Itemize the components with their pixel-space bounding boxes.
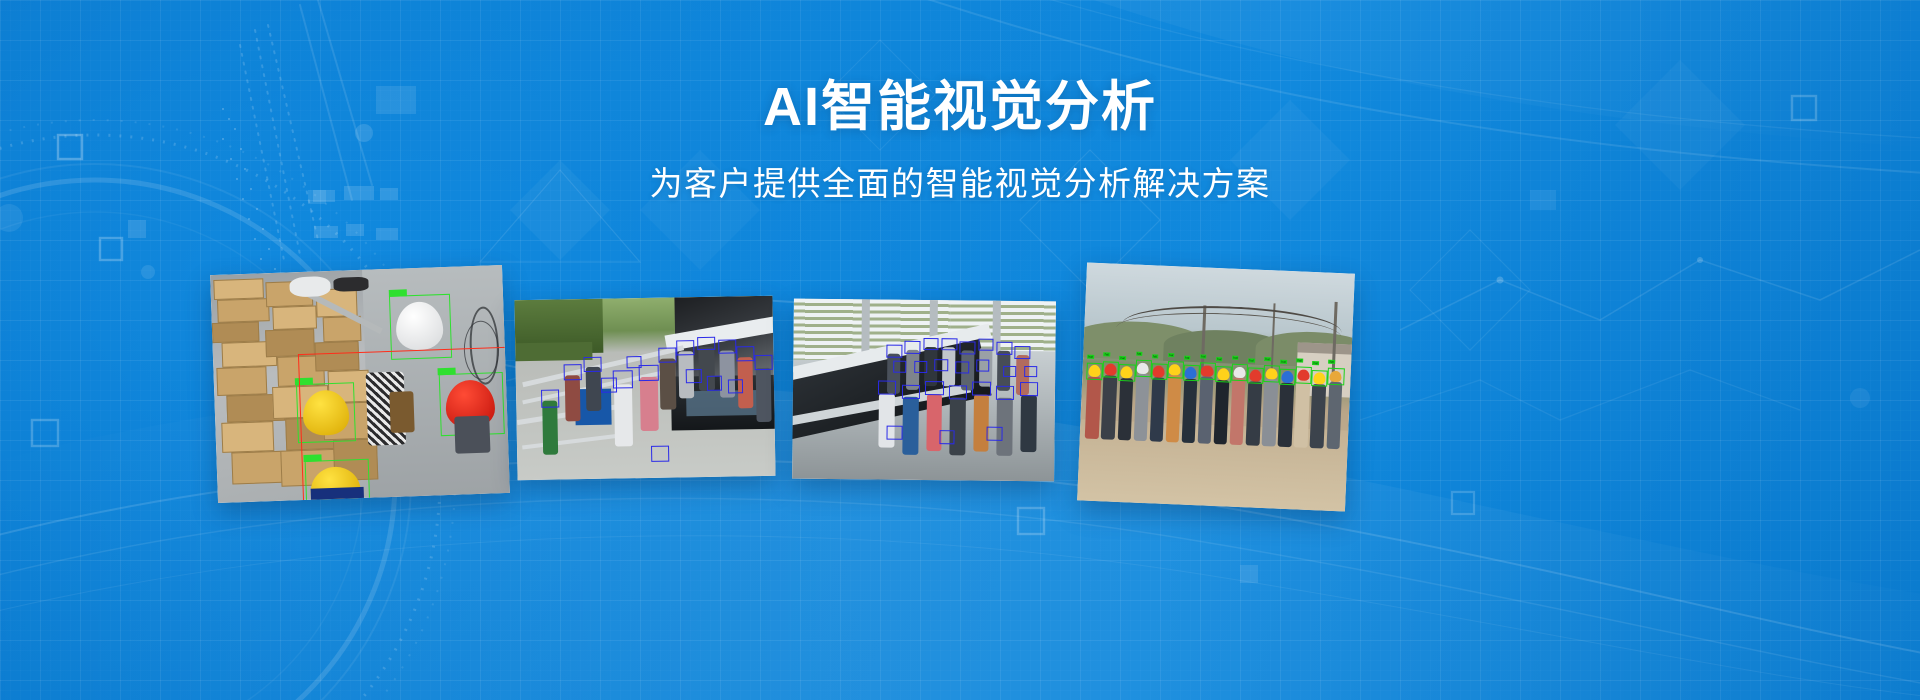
- detection-label: hat: [1120, 356, 1127, 360]
- detection-label: hat: [1136, 351, 1143, 355]
- detection-label: hat: [1312, 361, 1319, 365]
- detection-label: hat: [1087, 354, 1094, 358]
- detection-label: hat: [1280, 360, 1287, 364]
- photo-outdoor-group-helmet: hat hat hat hat hat hat: [1077, 262, 1355, 511]
- photo-walkway-crowd-counting: [792, 299, 1056, 482]
- sample-gallery: hat hat hat hat hat hat: [0, 258, 1920, 518]
- hero-banner: AI智能视觉分析 为客户提供全面的智能视觉分析解决方案: [0, 0, 1920, 700]
- gallery-card-pedestrian-bridge-crowd[interactable]: [514, 296, 775, 480]
- gallery-card-walkway-crowd-counting[interactable]: [792, 299, 1056, 482]
- detection-label: hat: [1184, 356, 1191, 360]
- detection-label: hat: [1296, 358, 1303, 362]
- detection-label: hat: [1152, 355, 1159, 359]
- gallery-card-outdoor-group-helmet[interactable]: hat hat hat hat hat hat: [1077, 262, 1355, 511]
- detection-label: hat: [1248, 359, 1255, 363]
- detection-label: hat: [1200, 354, 1207, 358]
- detection-label: hat: [1264, 357, 1271, 361]
- detection-label: hat: [1216, 357, 1223, 361]
- detection-label: hat: [1168, 353, 1175, 357]
- gallery-card-warehouse-helmet-detection[interactable]: [210, 265, 510, 503]
- detection-label: hat: [1329, 360, 1336, 364]
- banner-heading-block: AI智能视觉分析 为客户提供全面的智能视觉分析解决方案: [0, 78, 1920, 205]
- detection-label: hat: [1104, 353, 1111, 357]
- photo-warehouse-helmet-detection: [210, 265, 510, 503]
- photo-pedestrian-bridge-crowd: [514, 296, 775, 480]
- page-subtitle: 为客户提供全面的智能视觉分析解决方案: [0, 163, 1920, 204]
- page-title: AI智能视觉分析: [0, 78, 1920, 137]
- detection-label: hat: [1232, 356, 1239, 360]
